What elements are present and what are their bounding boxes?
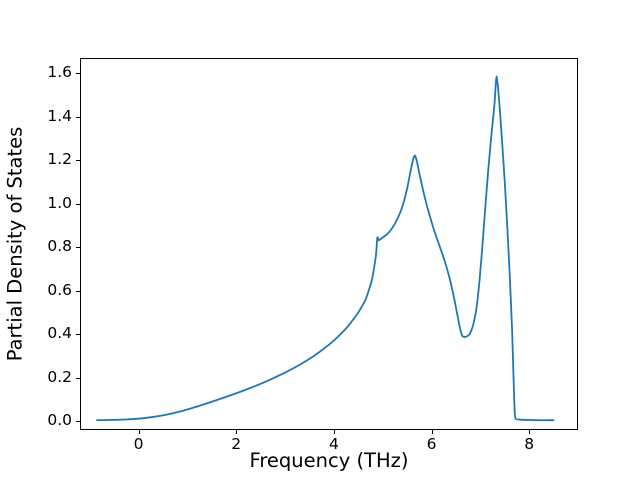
figure-canvas: Partial Density of States 0.00.20.40.60.… [0, 0, 640, 480]
x-axis-label: Frequency (THz) [80, 449, 578, 472]
x-tick-mark [139, 430, 140, 434]
plot-area [80, 58, 578, 430]
y-tick-label: 0.8 [22, 239, 72, 255]
pdos-curve [97, 76, 553, 420]
y-tick-label: 1.2 [22, 152, 72, 168]
y-tick-label: 1.6 [22, 65, 72, 81]
y-tick-label: 0.6 [22, 283, 72, 299]
y-tick-label: 0.0 [22, 413, 72, 429]
x-tick-mark [529, 430, 530, 434]
y-tick-label: 1.0 [22, 196, 72, 212]
x-tick-mark [432, 430, 433, 434]
x-tick-mark [334, 430, 335, 434]
y-tick-label: 0.2 [22, 370, 72, 386]
y-tick-label: 1.4 [22, 109, 72, 125]
x-tick-mark [236, 430, 237, 434]
y-tick-label: 0.4 [22, 326, 72, 342]
